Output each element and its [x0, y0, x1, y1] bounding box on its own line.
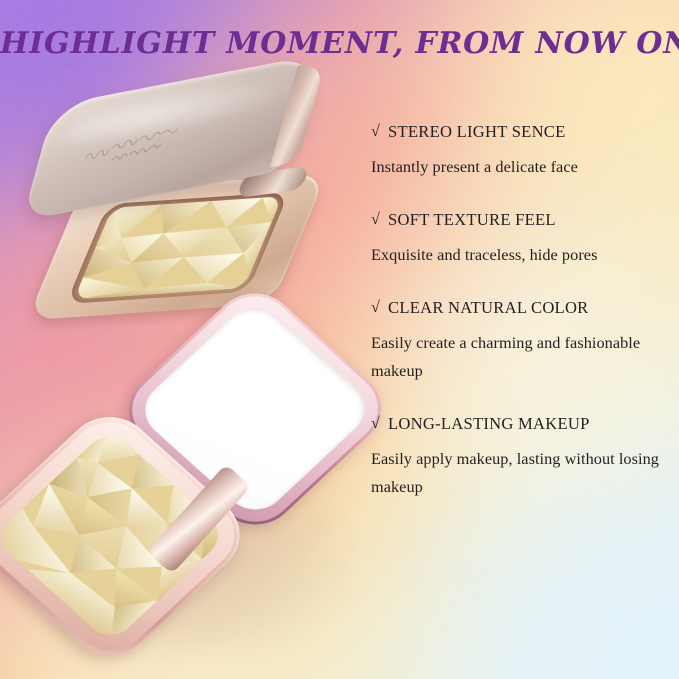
check-icon: √	[371, 300, 388, 316]
product-marketing-image: HIGHLIGHT MOMENT, FROM NOW ON	[0, 0, 679, 679]
feature-item: √ SOFT TEXTURE FEEL Exquisite and tracel…	[371, 210, 671, 269]
feature-heading: √ SOFT TEXTURE FEEL	[371, 210, 671, 230]
feature-item: √ LONG-LASTING MAKEUP Easily apply makeu…	[371, 414, 671, 501]
feature-description: Exquisite and traceless, hide pores	[371, 241, 667, 269]
product-open-compact-flat	[6, 300, 366, 655]
feature-description: Easily apply makeup, lasting without los…	[371, 445, 667, 501]
check-icon: √	[371, 212, 388, 228]
feature-description: Instantly present a delicate face	[371, 153, 667, 181]
check-icon: √	[371, 124, 388, 140]
feature-heading: √ STEREO LIGHT SENCE	[371, 122, 671, 142]
feature-item: √ CLEAR NATURAL COLOR Easily create a ch…	[371, 298, 671, 385]
feature-title: CLEAR NATURAL COLOR	[388, 298, 589, 318]
feature-heading: √ CLEAR NATURAL COLOR	[371, 298, 671, 318]
check-icon: √	[371, 416, 388, 432]
feature-title: STEREO LIGHT SENCE	[388, 122, 566, 142]
feature-list: √ STEREO LIGHT SENCE Instantly present a…	[371, 122, 671, 501]
page-title: HIGHLIGHT MOMENT, FROM NOW ON	[0, 26, 679, 61]
powder-pan-gold	[74, 196, 283, 299]
feature-description: Easily create a charming and fashionable…	[371, 329, 667, 385]
feature-title: SOFT TEXTURE FEEL	[388, 210, 556, 230]
feature-title: LONG-LASTING MAKEUP	[388, 414, 590, 434]
product-open-compact-angled	[46, 78, 346, 316]
feature-heading: √ LONG-LASTING MAKEUP	[371, 414, 671, 434]
compact-lid-edge	[270, 60, 326, 167]
feature-item: √ STEREO LIGHT SENCE Instantly present a…	[371, 122, 671, 181]
faceted-powder-pattern-icon	[74, 196, 283, 299]
